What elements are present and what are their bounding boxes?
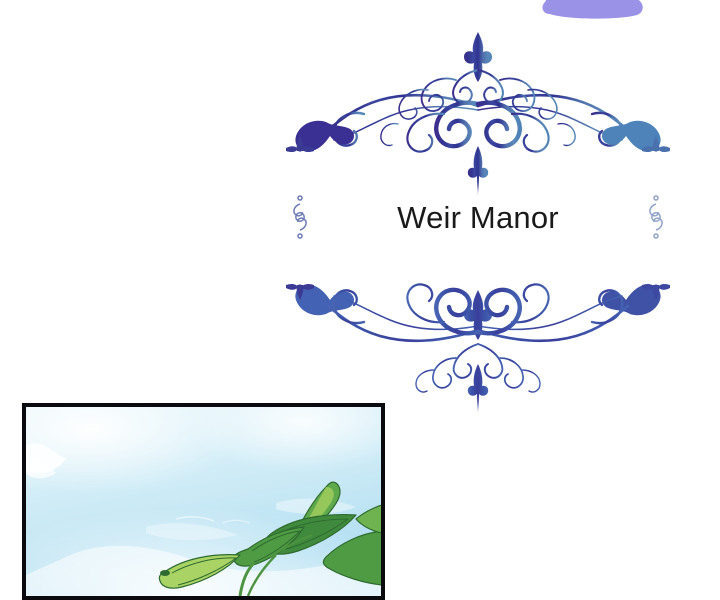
webtoon-page: Weir Manor (0, 0, 720, 600)
sky-background (26, 407, 381, 596)
frame-top-flourish (328, 32, 628, 196)
cloud-shape (543, 0, 643, 19)
location-title: Weir Manor (268, 200, 688, 236)
green-leaves-illustration (26, 407, 381, 596)
comic-panel (22, 403, 385, 600)
frame-bottom-flourish (328, 284, 628, 414)
